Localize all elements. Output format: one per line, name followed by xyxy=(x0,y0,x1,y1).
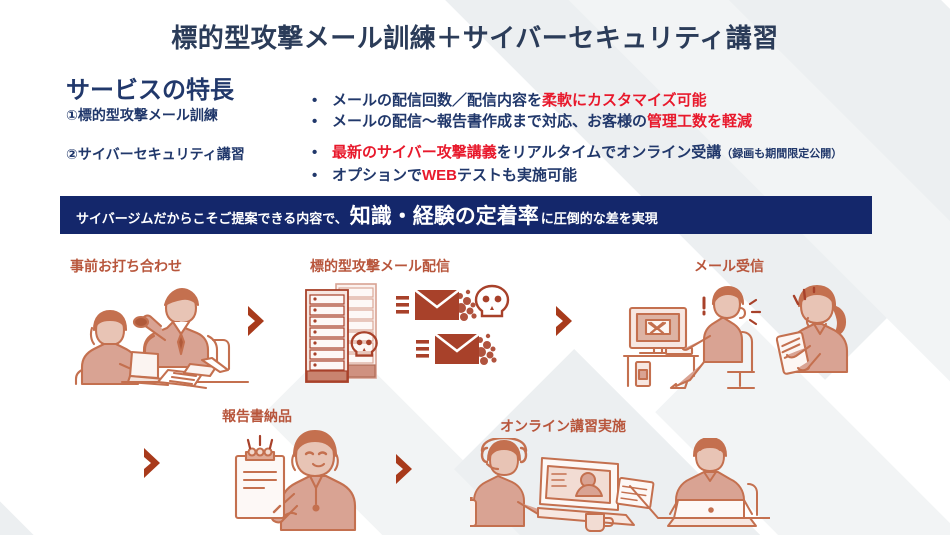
bullet-marker-icon: • xyxy=(312,111,332,132)
meeting-two-people-illustration xyxy=(70,278,260,398)
bullet-item: •オプションでWEBテストも実施可能 xyxy=(312,165,842,186)
server-rack-phishing-mail-illustration xyxy=(302,278,527,398)
bullet-plain-text: メールの配信回数／配信内容を xyxy=(332,92,542,109)
features-heading: サービスの特長 xyxy=(66,70,234,105)
bullet-text: メールの配信～報告書作成まで対応、お客様の管理工数を軽減 xyxy=(332,111,752,132)
bullet-marker-icon: • xyxy=(312,165,332,186)
feature-item-1: ①標的型攻撃メール訓練 xyxy=(66,105,218,125)
bullet-text: 最新のサイバー攻撃講義をリアルタイムでオンライン受講（録画も期間限定公開） xyxy=(332,142,842,165)
banner-trail-text: に圧倒的な差を実現 xyxy=(541,208,658,227)
bullet-marker-icon: • xyxy=(312,90,332,111)
slide-canvas: 標的型攻撃メール訓練＋サイバーセキュリティ講習 サービスの特長 ①標的型攻撃メー… xyxy=(0,0,950,535)
bullet-plain-text: メールの配信～報告書作成まで対応、お客様の xyxy=(332,113,647,130)
feature-item-2: ②サイバーセキュリティ講習 xyxy=(66,144,245,164)
chevron-right-icon xyxy=(392,452,422,491)
bullet-highlight-text: WEB xyxy=(422,167,457,184)
bullet-text: メールの配信回数／配信内容を柔軟にカスタマイズ可能 xyxy=(332,90,707,111)
chevron-right-icon xyxy=(552,304,582,343)
bullet-item: •最新のサイバー攻撃講義をリアルタイムでオンライン受講（録画も期間限定公開） xyxy=(312,142,842,165)
woman-with-report-clipboard-illustration xyxy=(218,428,368,535)
bullet-marker-icon: • xyxy=(312,142,332,163)
bullet-list-security-seminar: •最新のサイバー攻撃講義をリアルタイムでオンライン受講（録画も期間限定公開）•オ… xyxy=(312,142,842,186)
page-title: 標的型攻撃メール訓練＋サイバーセキュリティ講習 xyxy=(0,18,950,55)
flow-label-step-5: オンライン講習実施 xyxy=(500,416,626,436)
flow-label-step-4: 報告書納品 xyxy=(222,406,292,426)
bullet-item: •メールの配信回数／配信内容を柔軟にカスタマイズ可能 xyxy=(312,90,752,111)
online-training-laptops-illustration xyxy=(470,438,770,535)
highlight-banner-text: サイバージムだからこそご提案できる内容で、 知識・経験の定着率 に圧倒的な差を実… xyxy=(60,200,658,230)
flow-label-step-1: 事前お打ち合わせ xyxy=(70,256,182,276)
flow-label-step-2: 標的型攻撃メール配信 xyxy=(310,256,450,276)
chevron-right-icon xyxy=(244,304,274,343)
banner-lead-text: サイバージムだからこそご提案できる内容で、 xyxy=(76,208,348,227)
bullet-plain-text: をリアルタイムでオンライン受講 xyxy=(497,144,722,161)
bullet-plain-text: オプションで xyxy=(332,167,422,184)
bullet-highlight-text: 柔軟にカスタマイズ可能 xyxy=(542,92,707,109)
highlight-banner: サイバージムだからこそご提案できる内容で、 知識・経験の定着率 に圧倒的な差を実… xyxy=(60,196,872,234)
bullet-list-mail-training: •メールの配信回数／配信内容を柔軟にカスタマイズ可能•メールの配信～報告書作成ま… xyxy=(312,90,752,132)
bullet-highlight-text: 管理工数を軽減 xyxy=(647,113,752,130)
banner-emphasis-text: 知識・経験の定着率 xyxy=(348,200,541,230)
bullet-item: •メールの配信～報告書作成まで対応、お客様の管理工数を軽減 xyxy=(312,111,752,132)
bullet-plain-text: （録画も期間限定公開） xyxy=(721,148,842,160)
bullet-text: オプションでWEBテストも実施可能 xyxy=(332,165,577,186)
bullet-highlight-text: 最新のサイバー攻撃講義 xyxy=(332,144,497,161)
bullet-plain-text: テストも実施可能 xyxy=(457,167,577,184)
chevron-right-icon xyxy=(140,446,170,485)
mail-receiving-users-illustration xyxy=(618,280,868,397)
flow-label-step-3: メール受信 xyxy=(694,256,764,276)
